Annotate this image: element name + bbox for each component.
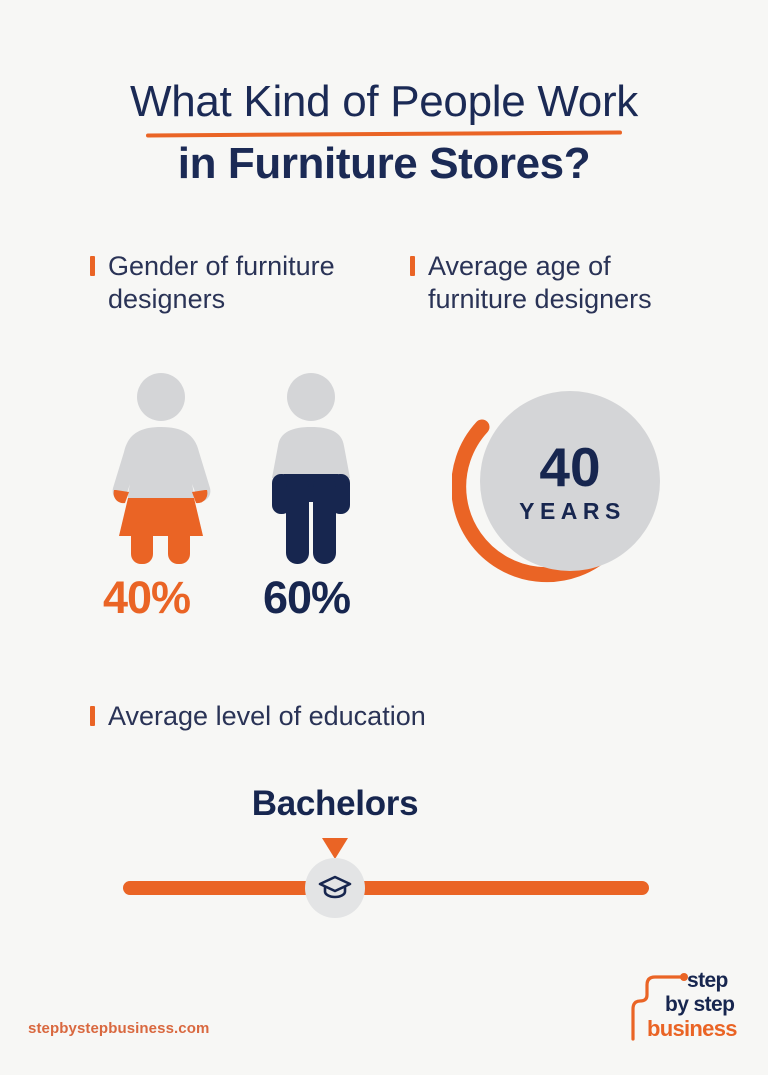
graduation-cap-icon <box>318 873 352 903</box>
education-slider-knob[interactable] <box>305 858 365 918</box>
female-figure-icon <box>104 372 219 567</box>
title-line-2: in Furniture Stores? <box>0 140 768 188</box>
logo-line-2: by step <box>665 994 737 1015</box>
orange-bar-marker-icon <box>410 256 415 276</box>
brand-logo[interactable]: step by step business <box>625 965 750 1045</box>
title-underline <box>146 130 622 137</box>
age-unit-label: YEARS <box>514 500 626 523</box>
orange-bar-marker-icon <box>90 256 95 276</box>
section-heading-gender-label: Gender of furniture designers <box>108 250 340 317</box>
orange-bar-marker-icon <box>90 706 95 726</box>
male-figure-icon <box>254 372 369 567</box>
male-percent-value: 60% <box>263 575 350 620</box>
site-url[interactable]: stepbystepbusiness.com <box>28 1020 209 1037</box>
logo-text-group: step by step business <box>665 970 737 1040</box>
age-number: 40 <box>539 440 600 495</box>
infographic-canvas: What Kind of People Work in Furniture St… <box>0 0 768 1075</box>
section-heading-gender: Gender of furniture designers <box>90 250 340 317</box>
section-heading-education: Average level of education <box>90 700 650 733</box>
education-level-value: Bachelors <box>0 784 670 824</box>
title-line-1: What Kind of People Work <box>0 78 768 126</box>
section-heading-education-label: Average level of education <box>108 700 426 733</box>
section-heading-age: Average age of furniture designers <box>410 250 690 317</box>
section-heading-age-label: Average age of furniture designers <box>428 250 690 317</box>
page-title: What Kind of People Work in Furniture St… <box>0 78 768 187</box>
female-percent-value: 40% <box>103 575 190 620</box>
education-slider-track[interactable] <box>123 881 649 895</box>
gender-percent-row: 40% 60% <box>96 575 396 631</box>
logo-line-3: business <box>647 1018 737 1040</box>
logo-line-1: step <box>665 970 737 991</box>
age-text-group: 40 YEARS <box>480 391 660 571</box>
down-triangle-pointer-icon <box>322 838 348 859</box>
average-age-circle: 40 YEARS <box>452 383 667 595</box>
